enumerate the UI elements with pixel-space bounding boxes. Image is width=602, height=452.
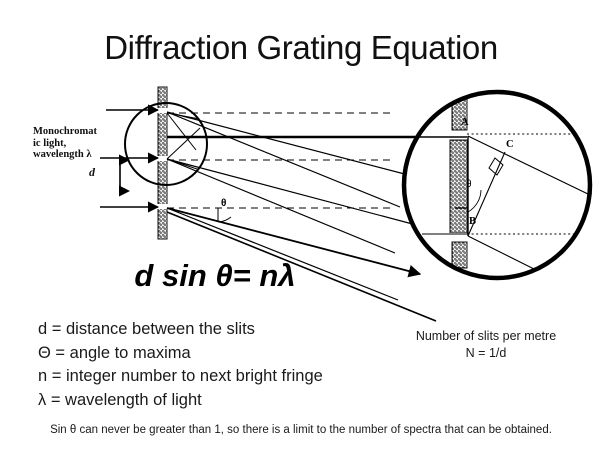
slits-note-title: Number of slits per metre — [380, 328, 592, 345]
definition-item: d = distance between the slits — [38, 318, 323, 342]
slits-per-metre-note: Number of slits per metre N = 1/d — [380, 328, 592, 362]
mono-label-line3: wavelength λ — [33, 149, 92, 160]
slide-canvas: Diffraction Grating Equation — [0, 0, 602, 452]
slits-note-formula: N = 1/d — [380, 345, 592, 362]
mono-label-line1: Monochromat — [33, 126, 97, 137]
point-a-label: A — [461, 117, 469, 128]
point-b-label: B — [469, 216, 476, 227]
theta-label-main: θ — [221, 198, 226, 209]
definition-item: Θ = angle to maxima — [38, 342, 323, 366]
grating-equation: d sin θ= nλ — [0, 258, 430, 294]
grating-bar — [157, 87, 168, 239]
definition-item: n = integer number to next bright fringe — [38, 365, 323, 389]
monochromatic-light-label: Monochromat ic light, wavelength λ — [33, 126, 125, 161]
footer-caption: Sin θ can never be greater than 1, so th… — [0, 424, 602, 436]
theta-label-magnifier: θ — [466, 179, 472, 190]
reference-lines — [167, 113, 390, 208]
point-c-label: C — [506, 139, 514, 150]
mono-label-line2: ic light, — [33, 138, 66, 149]
slit-spacing-label: d — [89, 165, 95, 180]
definition-item: λ = wavelength of light — [38, 389, 323, 413]
definition-list: d = distance between the slits Θ = angle… — [38, 318, 323, 412]
theta-angle-main — [218, 208, 231, 222]
